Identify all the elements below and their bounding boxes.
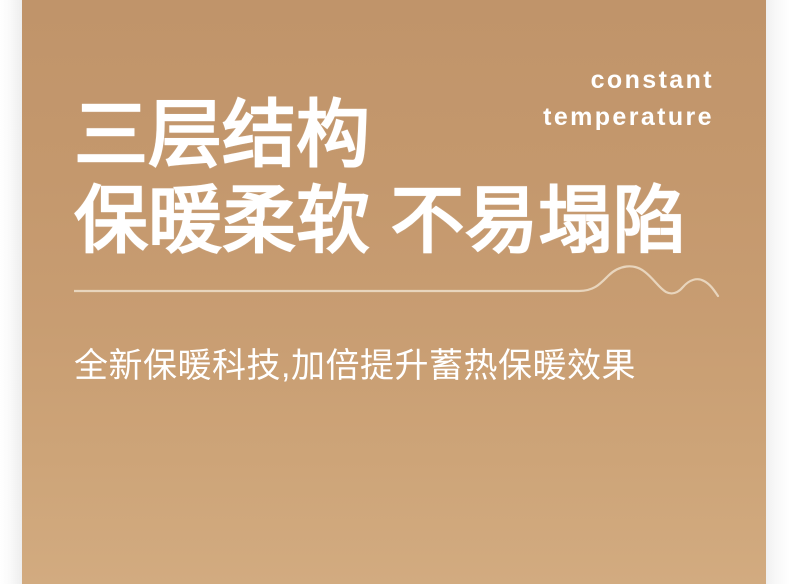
headline-line-2: 保暖柔软 不易塌陷 <box>74 178 687 264</box>
wave-divider <box>74 262 720 308</box>
headline-line-1: 三层结构 <box>74 92 687 178</box>
wave-divider-graphic <box>74 262 720 308</box>
left-edge-strip <box>0 0 22 584</box>
promo-banner: constant temperature 三层结构 保暖柔软 不易塌陷 全新保暖… <box>0 0 790 584</box>
headline: 三层结构 保暖柔软 不易塌陷 <box>74 92 687 264</box>
right-edge-strip <box>766 0 790 584</box>
subtitle: 全新保暖科技,加倍提升蓄热保暖效果 <box>74 345 636 387</box>
